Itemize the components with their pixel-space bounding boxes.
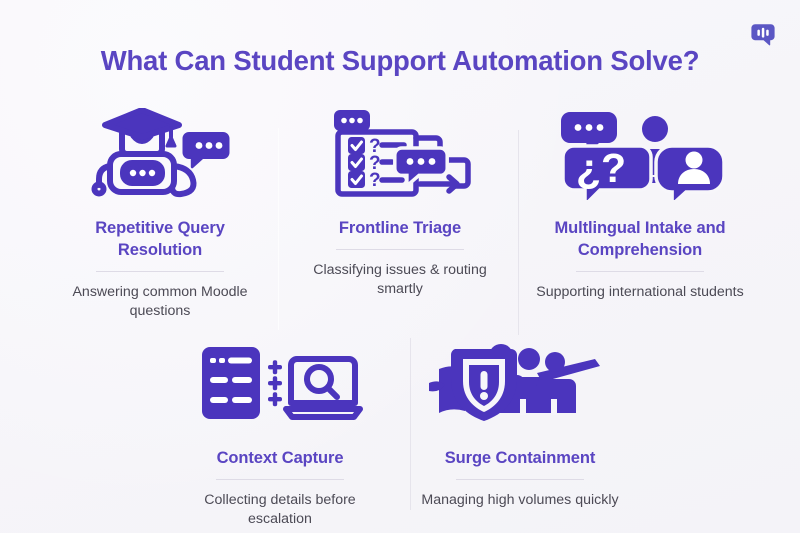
shield-alert-crowd-icon [425, 336, 615, 432]
card-heading: Surge Containment [445, 448, 595, 470]
card-heading: Multlingual Intake and Comprehension [534, 218, 746, 262]
feature-card: ¿? Multlingual Intake and Comprehension … [520, 106, 760, 302]
card-description: Classifying issues & routing smartly [295, 261, 505, 300]
heading-rule [216, 479, 344, 480]
multilingual-speech-bubbles-icon: ¿? [554, 106, 726, 202]
feature-card: ? ? ? [280, 106, 520, 300]
feature-row-bottom: Context Capture Collecting details befor… [0, 336, 800, 530]
slide-canvas: What Can Student Support Automation Solv… [0, 0, 800, 533]
card-description: Managing high volumes quickly [421, 491, 618, 511]
heading-rule [336, 249, 464, 250]
feature-row-top: Repetitive Query Resolution Answering co… [0, 106, 800, 322]
page-title: What Can Student Support Automation Solv… [0, 44, 800, 77]
card-heading: Context Capture [217, 448, 344, 470]
card-heading: Frontline Triage [339, 218, 461, 240]
card-description: Answering common Moodle questions [55, 283, 265, 322]
svg-text:?: ? [369, 170, 381, 191]
feature-card: Context Capture Collecting details befor… [160, 336, 400, 530]
svg-text:¿?: ¿? [576, 145, 626, 191]
heading-rule [96, 271, 224, 272]
feature-card: Repetitive Query Resolution Answering co… [40, 106, 280, 322]
graduation-robot-chat-icon [85, 106, 235, 202]
card-heading: Repetitive Query Resolution [54, 218, 266, 262]
card-description: Collecting details before escalation [175, 491, 385, 530]
feature-card: Surge Containment Managing high volumes … [400, 336, 640, 510]
checklist-triage-arrow-icon: ? ? ? [320, 106, 480, 202]
heading-rule [576, 271, 704, 272]
card-description: Supporting international students [536, 283, 743, 303]
heading-rule [456, 479, 584, 480]
form-laptop-search-icon [194, 336, 366, 432]
